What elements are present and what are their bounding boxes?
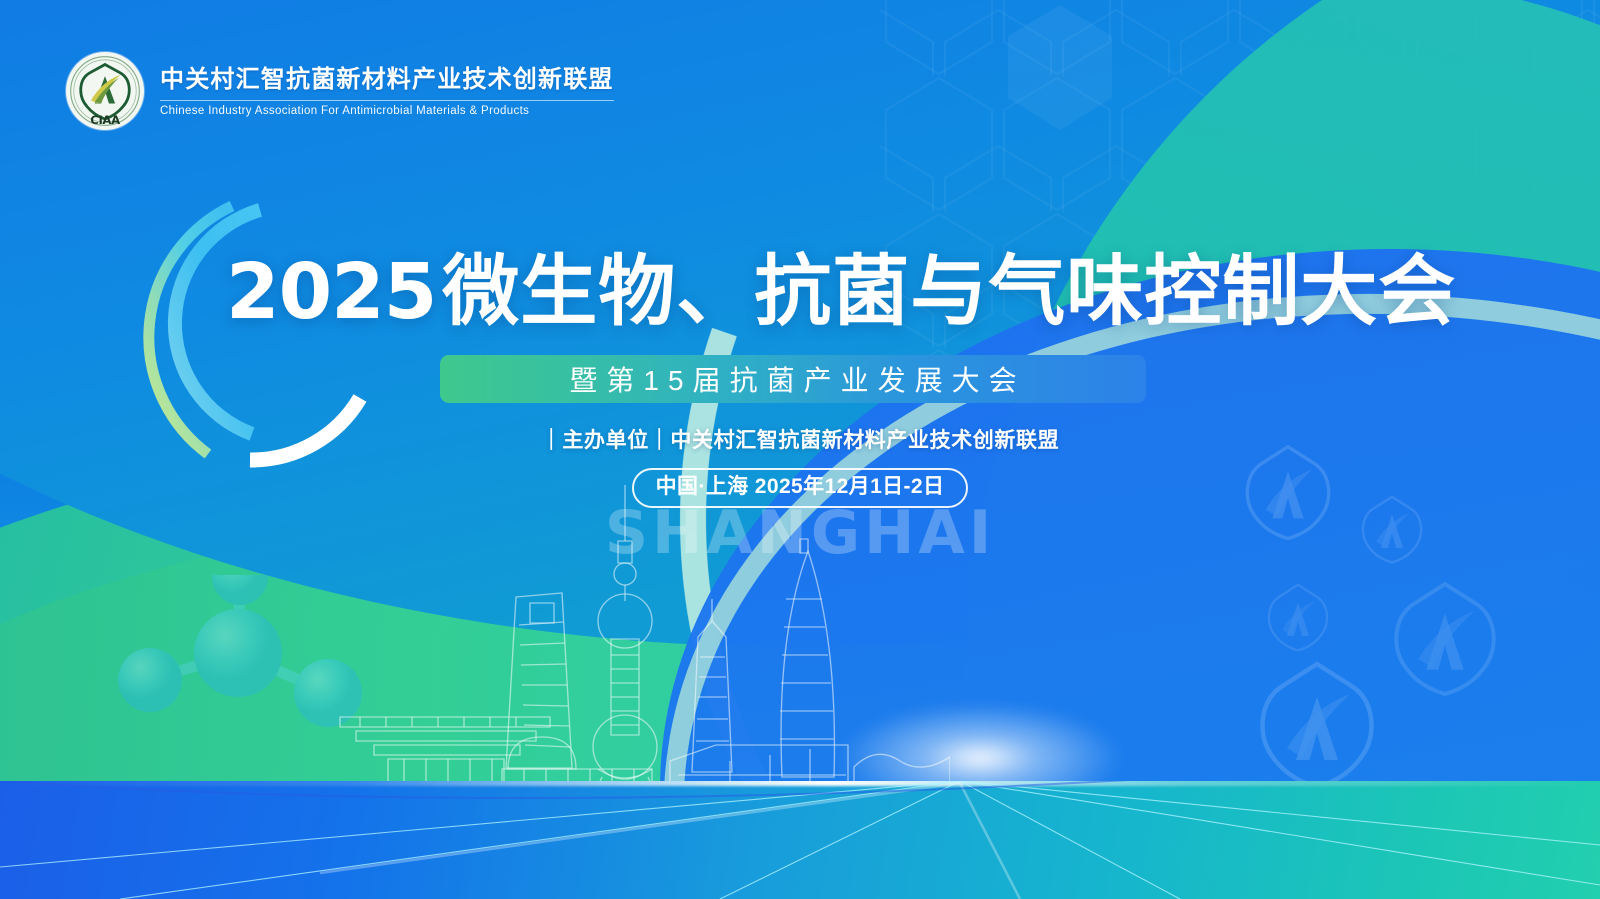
star-watermark-icon bbox=[1378, 576, 1512, 710]
road-band bbox=[0, 781, 1600, 899]
conference-banner: CIAA 中关村汇智抗菌新材料产业技术创新联盟 Chinese Industry… bbox=[0, 0, 1600, 899]
road-perspective-lines bbox=[0, 781, 1600, 899]
org-name-en: Chinese Industry Association For Antimic… bbox=[160, 105, 614, 117]
star-watermark-icon bbox=[1258, 580, 1338, 660]
org-name-cn: 中关村汇智抗菌新材料产业技术创新联盟 bbox=[160, 65, 614, 95]
organizer-line: ｜主办单位｜中关村汇智抗菌新材料产业技术创新联盟 bbox=[0, 424, 1600, 454]
venue-date-wrap: 中国·上海 2025年12月1日-2日 bbox=[0, 468, 1600, 508]
title-year: 2025 bbox=[226, 248, 436, 337]
page-title: 2025微生物、抗菌与气味控制大会 bbox=[226, 254, 1376, 331]
venue-date-badge: 中国·上海 2025年12月1日-2日 bbox=[632, 468, 969, 508]
subtitle-bar: 暨第15届抗菌产业发展大会 bbox=[440, 355, 1146, 403]
subtitle-text: 暨第15届抗菌产业发展大会 bbox=[560, 359, 1025, 399]
logo-wordmark: CIAA bbox=[90, 113, 120, 127]
header-logo-block: CIAA 中关村汇智抗菌新材料产业技术创新联盟 Chinese Industry… bbox=[66, 52, 614, 130]
ciaa-logo-icon[interactable]: CIAA bbox=[66, 52, 144, 130]
org-name-block: 中关村汇智抗菌新材料产业技术创新联盟 Chinese Industry Asso… bbox=[160, 65, 614, 117]
title-main: 微生物、抗菌与气味控制大会 bbox=[442, 249, 1456, 335]
org-divider bbox=[160, 100, 614, 101]
